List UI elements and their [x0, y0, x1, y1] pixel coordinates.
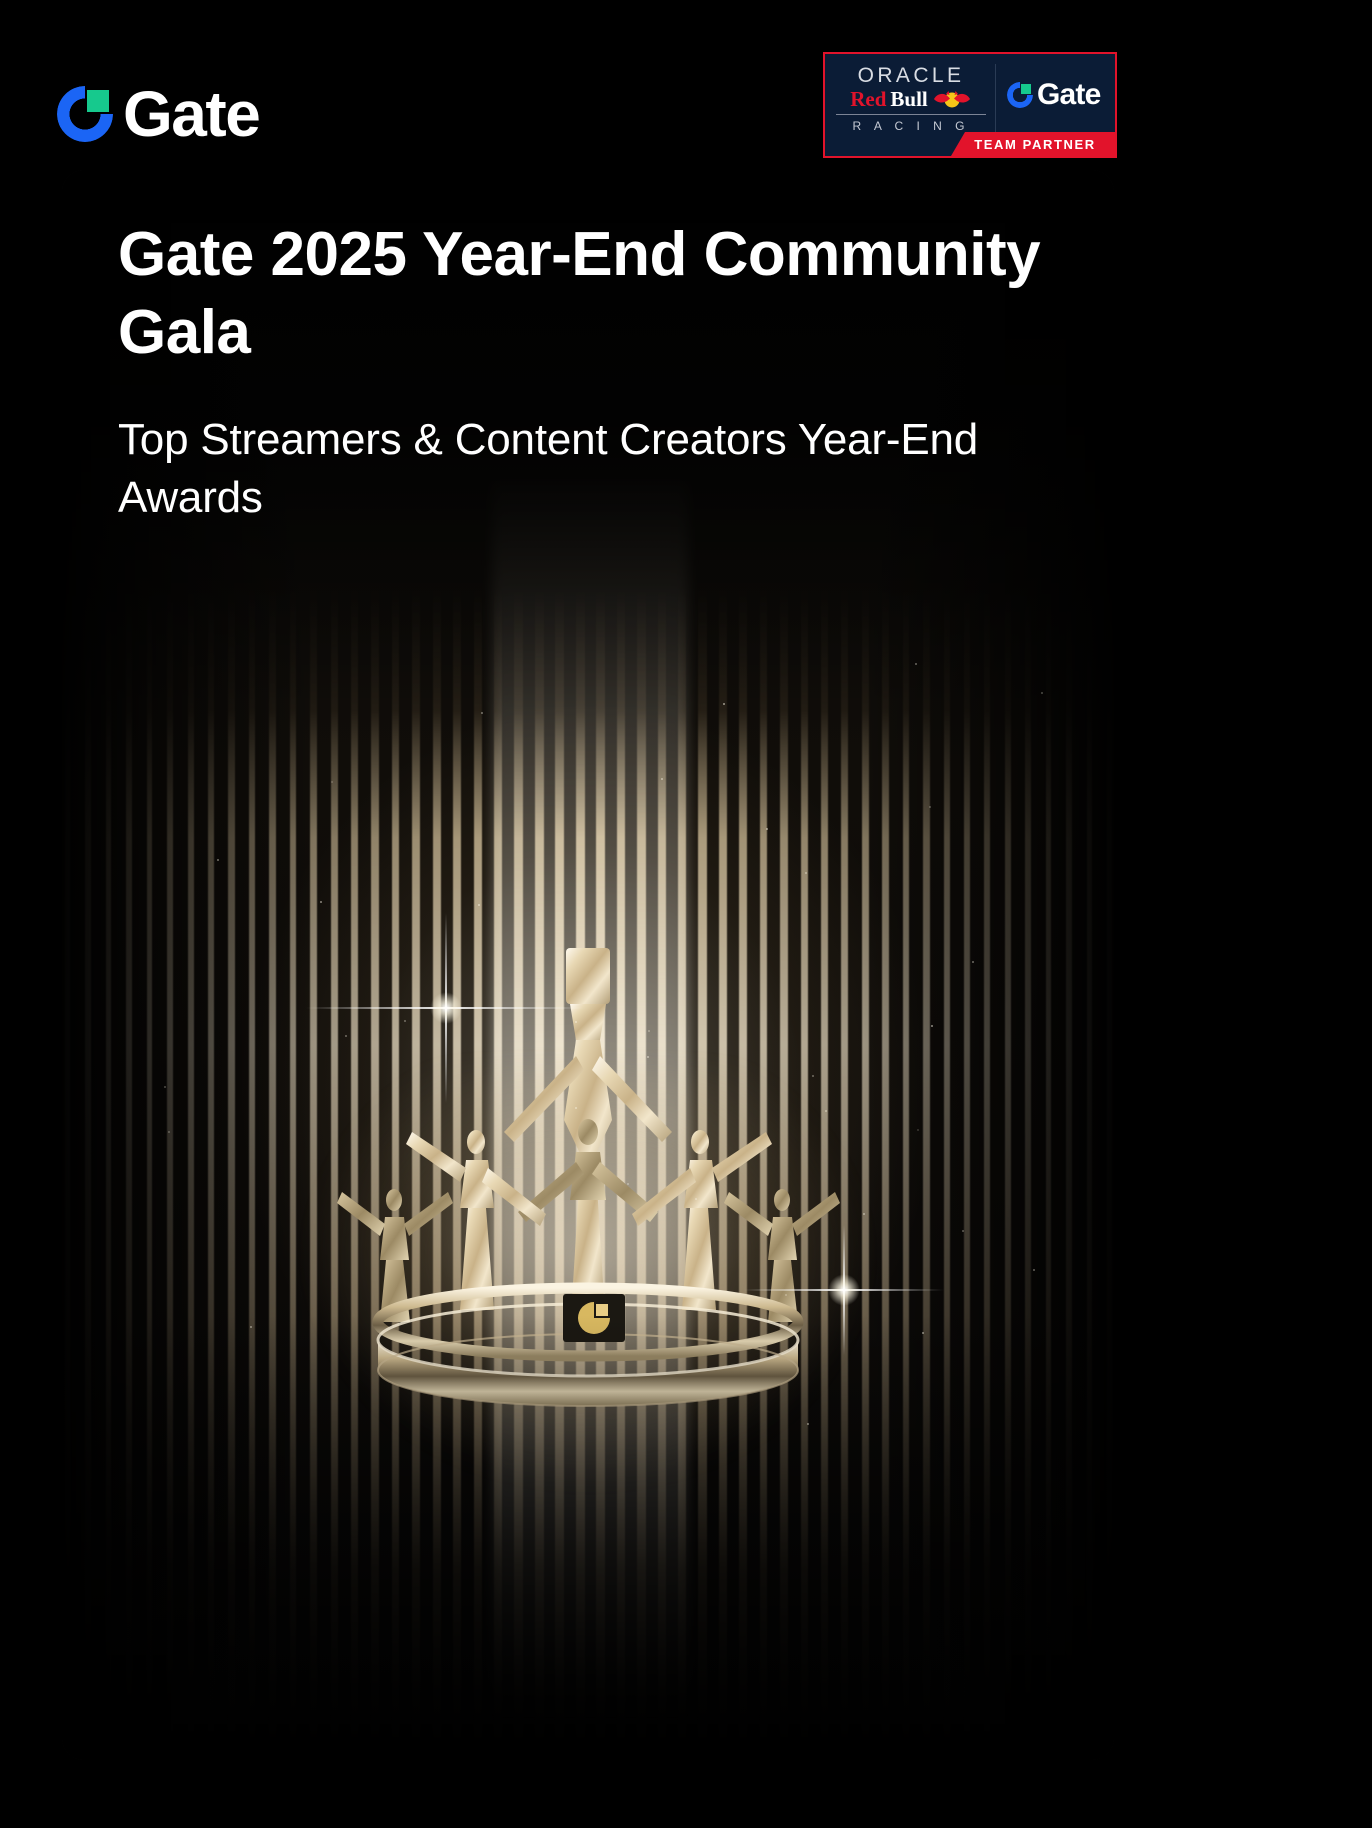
red-bull-charging-bulls-icon: [932, 89, 972, 109]
gate-wordmark: Gate: [123, 82, 259, 146]
team-partner-label: TEAM PARTNER: [974, 138, 1096, 151]
badge-gate-wordmark: Gate: [1037, 80, 1101, 110]
top-bar: Gate ORACLE Red Bull R A C I N G: [0, 0, 1372, 170]
badge-gate-logo: Gate: [1007, 80, 1101, 110]
page-title: Gate 2025 Year-End Community Gala: [118, 216, 1058, 371]
racing-wordmark: R A C I N G: [852, 120, 969, 132]
gate-logo-icon: [57, 86, 113, 142]
page-subtitle: Top Streamers & Content Creators Year-En…: [118, 411, 1058, 527]
bull-word: Bull: [890, 89, 927, 110]
poster-page: Gate ORACLE Red Bull R A C I N G: [0, 0, 1372, 1828]
red-bull-wordmark-row: Red Bull: [850, 89, 972, 110]
badge-divider-rule: [836, 114, 986, 115]
red-word: Red: [850, 89, 886, 110]
oracle-wordmark: ORACLE: [858, 65, 965, 86]
gate-logo-icon: [1007, 82, 1033, 108]
red-bull-racing-lockup: ORACLE Red Bull R A C I N G: [833, 58, 989, 138]
hero-copy: Gate 2025 Year-End Community Gala Top St…: [62, 170, 1114, 527]
badge-vertical-divider: [995, 64, 996, 132]
team-partner-ribbon: TEAM PARTNER: [951, 132, 1117, 156]
hero-card: Gate 2025 Year-End Community Gala Top St…: [62, 170, 1114, 1760]
gate-brand-logo[interactable]: Gate: [57, 82, 259, 146]
oracle-red-bull-racing-partner-badge[interactable]: ORACLE Red Bull R A C I N G: [823, 52, 1117, 158]
